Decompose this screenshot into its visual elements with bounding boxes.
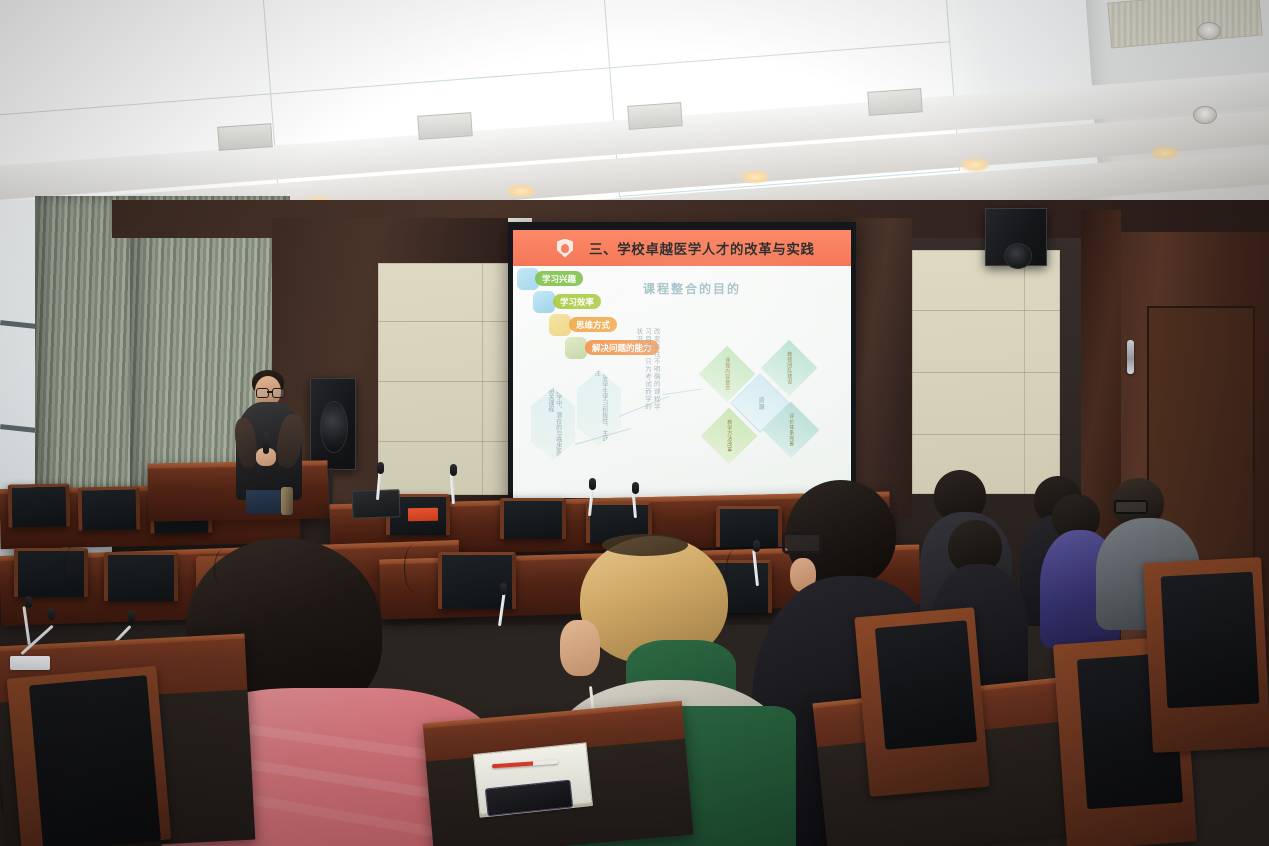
door-handle-icon[interactable] [1127,340,1134,374]
air-conditioning-grille-icon [1107,0,1262,49]
slide-diagram: 课程内容整合 教师团队建设 教学方法改革 评价体系完善 资源 [695,338,825,478]
ceiling-downlight [740,170,770,184]
chair[interactable] [8,483,71,527]
presenter [232,370,312,510]
wall-acoustic-panel [378,263,512,495]
tag-icon-4 [565,337,587,359]
slide-tag-3: 思维方式 [569,317,617,332]
slide-hex-note-2: 激发学生学习积极性、主动性 [577,370,621,446]
wall-speaker-left [310,378,356,470]
slide-hex-note-1: 教学中、潜在的与临床医学相关课程 [531,388,575,460]
gooseneck-microphone[interactable] [452,472,462,504]
ceiling-spotlight [1193,106,1217,124]
handheld-microphone[interactable] [263,432,269,454]
wall-acoustic-panel [912,250,1060,494]
slide-hex-note-1-label: 教学中、潜在的与临床医学相关课程 [545,388,561,460]
conference-room-photo: 三、学校卓越医学人才的改革与实践 课程整合的目的 学习兴趣 学习效率 思维方式 … [0,0,1269,846]
hair-roots [602,534,688,556]
slide-left-note: 改变以往不明确的课程学习目的、只为考试而学的状况 [633,328,659,412]
slide-subtitle: 课程整合的目的 [643,280,741,297]
gooseneck-microphone[interactable] [20,612,30,654]
tag-icon-3 [549,314,571,336]
projection-screen-frame: 三、学校卓越医学人才的改革与实践 课程整合的目的 学习兴趣 学习效率 思维方式 … [508,222,856,502]
slide-body: 课程整合的目的 学习兴趣 学习效率 思维方式 解决问题的能力 改变以往不明确的课… [513,266,851,498]
chair-back-cushion [29,675,161,846]
tag-icon-2 [533,291,555,313]
neck [560,620,600,676]
glasses-icon [1114,500,1148,514]
gooseneck-microphone[interactable] [634,490,644,518]
thermos-bottle [281,487,293,515]
chair-back-cushion [1161,572,1260,709]
gooseneck-microphone[interactable] [588,486,598,516]
wall-wood-column [852,218,912,518]
slide-tag-2: 学习效率 [553,294,601,309]
ceiling-vent [627,102,683,130]
ceiling-vent [417,112,473,140]
name-card [408,508,438,522]
ceiling-spotlight [1197,22,1221,40]
chair[interactable] [78,486,141,530]
ceiling-vent [867,88,923,116]
chair[interactable] [500,498,566,539]
ceiling-downlight [1150,146,1180,160]
projection-screen: 三、学校卓越医学人才的改革与实践 课程整合的目的 学习兴趣 学习效率 思维方式 … [513,230,851,498]
shield-emblem-icon [557,239,573,258]
slide-header-title: 三、学校卓越医学人才的改革与实践 [589,238,815,258]
ceiling-downlight [960,158,990,172]
ceiling-vent [217,123,273,151]
ceiling-downlight [506,184,536,198]
chair-back-cushion [875,620,977,750]
slide-tag-1: 学习兴趣 [535,271,583,286]
slide-header: 三、学校卓越医学人才的改革与实践 [513,230,851,266]
gooseneck-microphone[interactable] [376,470,386,500]
wall-speaker-upper-right [985,208,1047,266]
